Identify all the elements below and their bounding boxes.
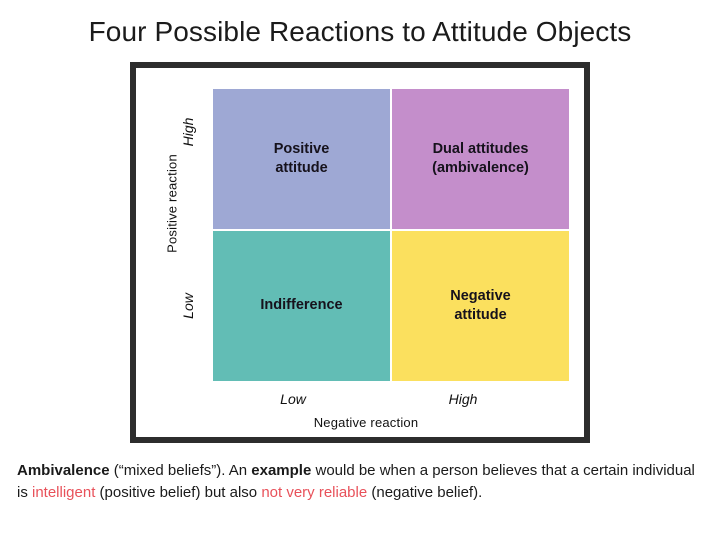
figure-frame: Positive reaction High Low Positive atti… <box>130 62 590 443</box>
quadrant-label-line1: Indifference <box>260 297 342 313</box>
x-axis-tick-low: Low <box>248 391 338 407</box>
caption-segment-4: (negative belief). <box>367 484 482 501</box>
quadrant-grid: Positive attitude Dual attitudes (ambiva… <box>213 89 569 379</box>
quadrant-label: Negative attitude <box>450 287 510 325</box>
quadrant-label-line2: (ambivalence) <box>432 160 529 176</box>
quadrant-label-line1: Dual attitudes <box>433 141 529 157</box>
y-axis-tick-high: High <box>180 107 196 157</box>
quadrant-dual-attitudes: Dual attitudes (ambivalence) <box>392 89 569 229</box>
caption-bold-term: Ambivalence <box>17 462 110 479</box>
y-axis-tick-low: Low <box>180 281 196 331</box>
quadrant-positive-attitude: Positive attitude <box>213 89 390 229</box>
caption-bold-example: example <box>251 462 311 479</box>
quadrant-label: Indifference <box>260 296 342 315</box>
quadrant-label: Dual attitudes (ambivalence) <box>432 140 529 178</box>
quadrant-negative-attitude: Negative attitude <box>392 231 569 381</box>
caption-highlight-not-very-reliable: not very reliable <box>261 484 367 501</box>
y-axis-title: Positive reaction <box>165 124 180 284</box>
quadrant-label-line1: Positive <box>274 141 330 157</box>
x-axis-tick-high: High <box>418 391 508 407</box>
quadrant-label-line2: attitude <box>454 307 506 323</box>
caption-text: Ambivalence (“mixed beliefs”). An exampl… <box>17 460 707 504</box>
caption-segment-1: (“mixed beliefs”). An <box>110 462 252 479</box>
figure-inner: Positive reaction High Low Positive atti… <box>136 68 584 437</box>
x-axis-title: Negative reaction <box>136 415 596 430</box>
quadrant-label-line2: attitude <box>275 160 327 176</box>
quadrant-label: Positive attitude <box>274 140 330 178</box>
page-title: Four Possible Reactions to Attitude Obje… <box>0 16 720 48</box>
caption-segment-3: (positive belief) but also <box>95 484 261 501</box>
caption-highlight-intelligent: intelligent <box>32 484 95 501</box>
quadrant-indifference: Indifference <box>213 231 390 381</box>
quadrant-label-line1: Negative <box>450 288 510 304</box>
